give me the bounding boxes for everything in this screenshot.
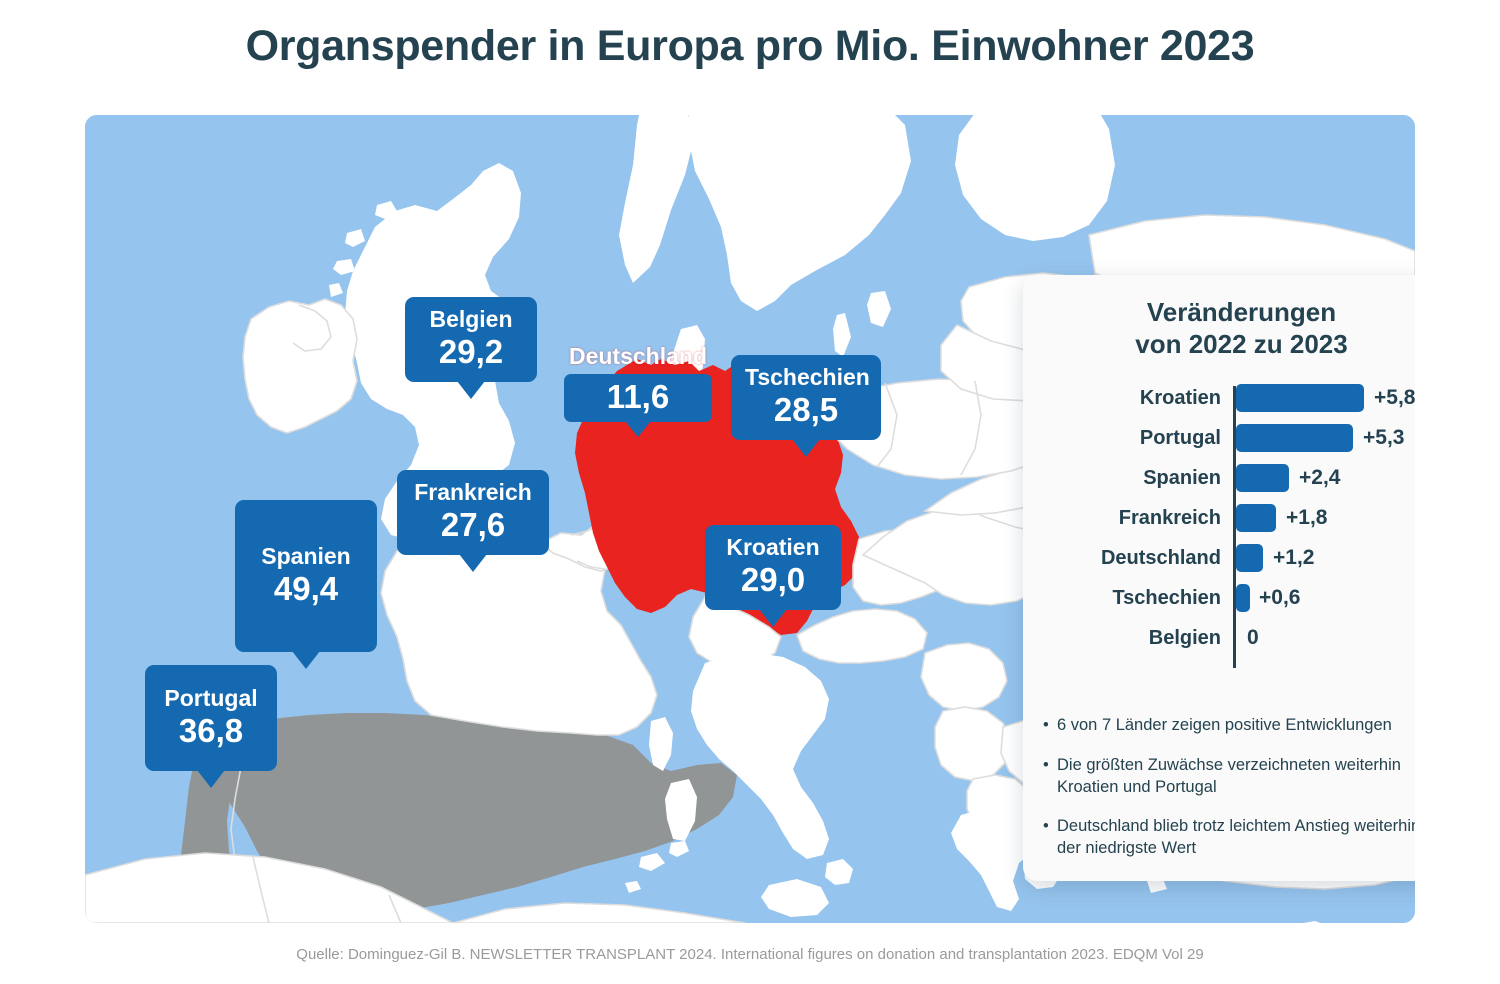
bullet-item: Die größten Zuwächse verzeichneten weite… <box>1043 755 1415 799</box>
callout-value: 27,6 <box>411 508 535 543</box>
callout-country: Frankreich <box>411 480 535 504</box>
callout-value: 29,0 <box>719 563 827 598</box>
chart-value-label: +2,4 <box>1299 458 1340 498</box>
chart-category-label: Frankreich <box>1043 498 1221 538</box>
chart-value-label: +1,8 <box>1286 498 1327 538</box>
chart-row: Tschechien +0,6 <box>1043 578 1415 618</box>
chart-value-label: +5,8 <box>1374 378 1415 418</box>
callout-pointer <box>457 381 485 399</box>
chart-row: Frankreich +1,8 <box>1043 498 1415 538</box>
callout-pointer <box>292 651 320 669</box>
callout-deutschland[interactable]: Deutschland 11,6 <box>564 343 712 422</box>
callout-value: 49,4 <box>249 572 363 607</box>
chart-bar <box>1236 464 1289 492</box>
chart-bar <box>1236 504 1276 532</box>
bullet-item: 6 von 7 Länder zeigen positive Entwicklu… <box>1043 715 1415 737</box>
panel-title-line1: Veränderungen <box>1043 297 1415 329</box>
changes-panel: Veränderungen von 2022 zu 2023 Kroatien … <box>1023 275 1415 881</box>
panel-title-line2: von 2022 zu 2023 <box>1043 329 1415 361</box>
callout-pointer <box>759 609 787 627</box>
callout-country: Portugal <box>159 686 263 710</box>
changes-bar-chart: Kroatien +5,8 Portugal +5,3 Spanien +2,4… <box>1043 378 1415 668</box>
chart-category-label: Portugal <box>1043 418 1221 458</box>
infographic-page: Organspender in Europa pro Mio. Einwohne… <box>0 0 1500 984</box>
callout-spanien[interactable]: Spanien 49,4 <box>235 500 377 652</box>
panel-bullets: 6 von 7 Länder zeigen positive Entwicklu… <box>1043 715 1415 878</box>
chart-row: Kroatien +5,8 <box>1043 378 1415 418</box>
callout-country: Spanien <box>249 544 363 568</box>
chart-category-label: Deutschland <box>1043 538 1221 578</box>
chart-category-label: Tschechien <box>1043 578 1221 618</box>
bullet-item: Deutschland blieb trotz leichtem Anstieg… <box>1043 816 1415 860</box>
callout-value: 29,2 <box>419 335 523 370</box>
chart-bar <box>1236 544 1263 572</box>
page-title: Organspender in Europa pro Mio. Einwohne… <box>0 22 1500 71</box>
callout-portugal[interactable]: Portugal 36,8 <box>145 665 277 771</box>
callout-pointer <box>459 554 487 572</box>
chart-value-label: +1,2 <box>1273 538 1314 578</box>
callout-kroatien[interactable]: Kroatien 29,0 <box>705 525 841 610</box>
map-card: .land{fill:#ffffff;stroke:#dddddd;stroke… <box>85 115 1415 923</box>
chart-bar <box>1236 584 1250 612</box>
callout-value: 36,8 <box>159 714 263 749</box>
callout-value: 11,6 <box>564 378 712 416</box>
callout-belgien[interactable]: Belgien 29,2 <box>405 297 537 382</box>
chart-category-label: Kroatien <box>1043 378 1221 418</box>
chart-value-label: +5,3 <box>1363 418 1404 458</box>
chart-row: Belgien 0 <box>1043 618 1415 658</box>
chart-bar <box>1236 424 1353 452</box>
callout-country: Deutschland <box>564 343 712 370</box>
source-citation: Quelle: Dominguez-Gil B. NEWSLETTER TRAN… <box>0 946 1500 963</box>
callout-country: Tschechien <box>745 365 867 389</box>
callout-pointer <box>792 439 820 457</box>
callout-pointer <box>197 770 225 788</box>
callout-country: Kroatien <box>719 535 827 559</box>
chart-row: Spanien +2,4 <box>1043 458 1415 498</box>
chart-category-label: Belgien <box>1043 618 1221 658</box>
chart-value-label: 0 <box>1247 618 1259 658</box>
callout-value-box: 11,6 <box>564 374 712 422</box>
chart-row: Portugal +5,3 <box>1043 418 1415 458</box>
callout-pointer <box>625 421 651 437</box>
callout-tschechien[interactable]: Tschechien 28,5 <box>731 355 881 440</box>
chart-value-label: +0,6 <box>1259 578 1300 618</box>
chart-bar <box>1236 384 1364 412</box>
chart-category-label: Spanien <box>1043 458 1221 498</box>
callout-frankreich[interactable]: Frankreich 27,6 <box>397 470 549 555</box>
callout-value: 28,5 <box>745 393 867 428</box>
chart-row: Deutschland +1,2 <box>1043 538 1415 578</box>
callout-country: Belgien <box>419 307 523 331</box>
panel-title: Veränderungen von 2022 zu 2023 <box>1043 297 1415 360</box>
